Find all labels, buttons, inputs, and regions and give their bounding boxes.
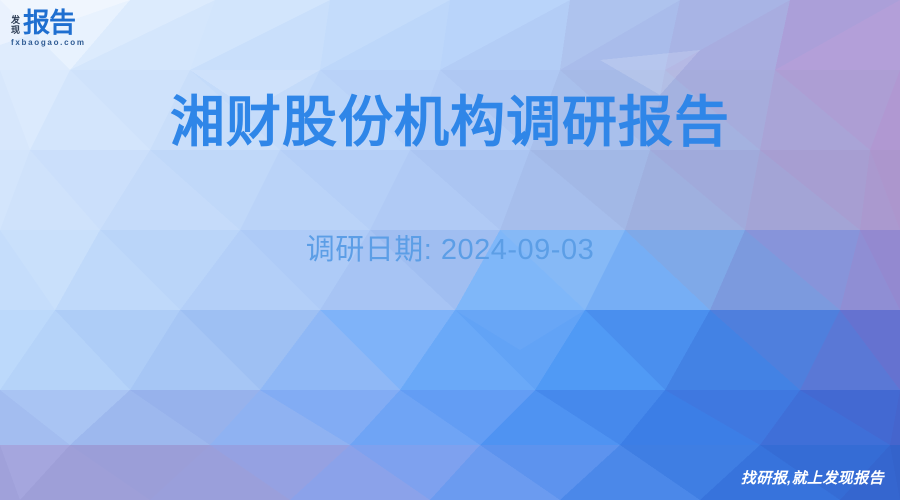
footer-slogan: 找研报,就上发现报告 [741, 468, 884, 490]
brand-logo[interactable]: 发 现 报告 fxbaogao.com [11, 9, 86, 47]
report-cover-slide: 发 现 报告 fxbaogao.com 湘财股份机构调研报告 调研日期: 202… [0, 0, 900, 500]
logo-wordmark-row: 发 现 报告 [11, 9, 75, 37]
survey-date-label: 调研日期: 2024-09-03 [0, 230, 900, 270]
logo-stacked-chars: 发 现 [11, 15, 20, 37]
logo-char-fa: 发 [11, 15, 20, 25]
logo-char-xian: 现 [11, 25, 20, 35]
page-title: 湘财股份机构调研报告 [0, 88, 900, 156]
logo-website-url: fxbaogao.com [11, 38, 86, 47]
logo-baogao-text: 报告 [23, 9, 75, 37]
